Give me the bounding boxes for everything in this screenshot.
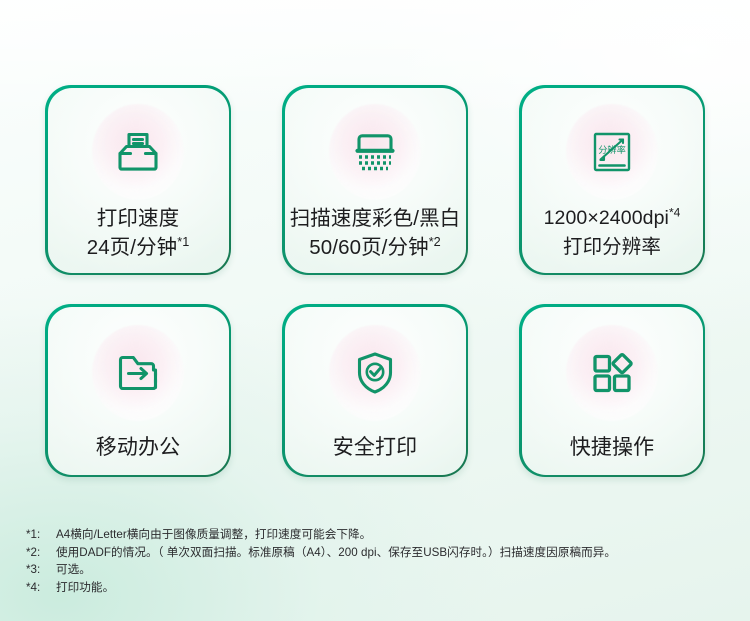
card-inner: 安全打印 [285, 307, 466, 475]
footnote-item: *2: 使用DADF的情况。（ 单次双面扫描。标准原稿（A4）、200 dpi、… [26, 544, 738, 562]
printer-icon [112, 126, 164, 178]
card-label: 安全打印 [285, 433, 466, 462]
icon-container [90, 104, 186, 200]
label-line-1: 移动办公 [96, 436, 180, 459]
card-inner: 扫描速度彩色/黑白 50/60页/分钟*2 [285, 88, 466, 273]
shield-check-icon [349, 347, 401, 399]
resolution-icon-text: 分辨率 [598, 144, 626, 155]
feature-card-scan-speed[interactable]: 扫描速度彩色/黑白 50/60页/分钟*2 [282, 85, 468, 275]
footnote-item: *4: 打印功能。 [26, 579, 738, 597]
footnote-text: 可选。 [56, 561, 738, 579]
card-inner: 移动办公 [48, 307, 229, 475]
icon-container [90, 325, 186, 421]
shapes-grid-icon [586, 347, 638, 399]
folder-arrow-icon [112, 347, 164, 399]
card-label: 快捷操作 [522, 433, 703, 462]
card-label: 移动办公 [48, 433, 229, 462]
label-line-1: 打印速度 [97, 207, 179, 230]
footnote-mark: *4 [669, 205, 680, 219]
feature-card-print-speed[interactable]: 打印速度 24页/分钟*1 [45, 85, 231, 275]
footnote-text: 打印功能。 [56, 579, 738, 597]
feature-card-grid: 打印速度 24页/分钟*1 [45, 85, 705, 477]
feature-highlight-page: 打印速度 24页/分钟*1 [0, 0, 750, 621]
label-line-1: 扫描速度彩色/黑白 [290, 207, 461, 230]
card-inner: 打印速度 24页/分钟*1 [48, 88, 229, 273]
icon-container [327, 104, 423, 200]
label-line-1: 安全打印 [333, 436, 417, 459]
footnote-mark: *2 [429, 234, 441, 249]
card-label: 打印速度 24页/分钟*1 [48, 204, 229, 262]
footnote-key: *4: [26, 579, 56, 597]
feature-card-print-resolution[interactable]: 分辨率 1200×2400dpi*4 打印分辨率 [519, 85, 705, 275]
footnote-item: *1: A4横向/Letter横向由于图像质量调整，打印速度可能会下降。 [26, 526, 738, 544]
footnote-key: *2: [26, 544, 56, 562]
label-line-2: 50/60页/分钟*2 [289, 233, 462, 262]
card-inner: 快捷操作 [522, 307, 703, 475]
card-inner: 分辨率 1200×2400dpi*4 打印分辨率 [522, 88, 703, 273]
footnote-item: *3: 可选。 [26, 561, 738, 579]
label-line-2: 打印分辨率 [526, 233, 699, 262]
icon-container [327, 325, 423, 421]
card-label: 1200×2400dpi*4 打印分辨率 [522, 204, 703, 262]
label-line-1: 1200×2400dpi*4 [544, 207, 681, 229]
footnote-text: 使用DADF的情况。（ 单次双面扫描。标准原稿（A4）、200 dpi、保存至U… [56, 544, 738, 562]
icon-container [564, 325, 660, 421]
card-label: 扫描速度彩色/黑白 50/60页/分钟*2 [285, 204, 466, 262]
icon-container: 分辨率 [564, 104, 660, 200]
footnote-mark: *1 [177, 234, 189, 249]
footnote-key: *1: [26, 526, 56, 544]
feature-card-mobile-office[interactable]: 移动办公 [45, 304, 231, 477]
feature-card-quick-operation[interactable]: 快捷操作 [519, 304, 705, 477]
scanner-icon [349, 126, 401, 178]
feature-card-secure-print[interactable]: 安全打印 [282, 304, 468, 477]
resolution-icon: 分辨率 [586, 126, 638, 178]
footnote-text: A4横向/Letter横向由于图像质量调整，打印速度可能会下降。 [56, 526, 738, 544]
footnote-key: *3: [26, 561, 56, 579]
label-line-2: 24页/分钟*1 [52, 233, 225, 262]
label-line-1: 快捷操作 [570, 436, 654, 459]
footnotes-block: *1: A4横向/Letter横向由于图像质量调整，打印速度可能会下降。 *2:… [26, 526, 738, 596]
